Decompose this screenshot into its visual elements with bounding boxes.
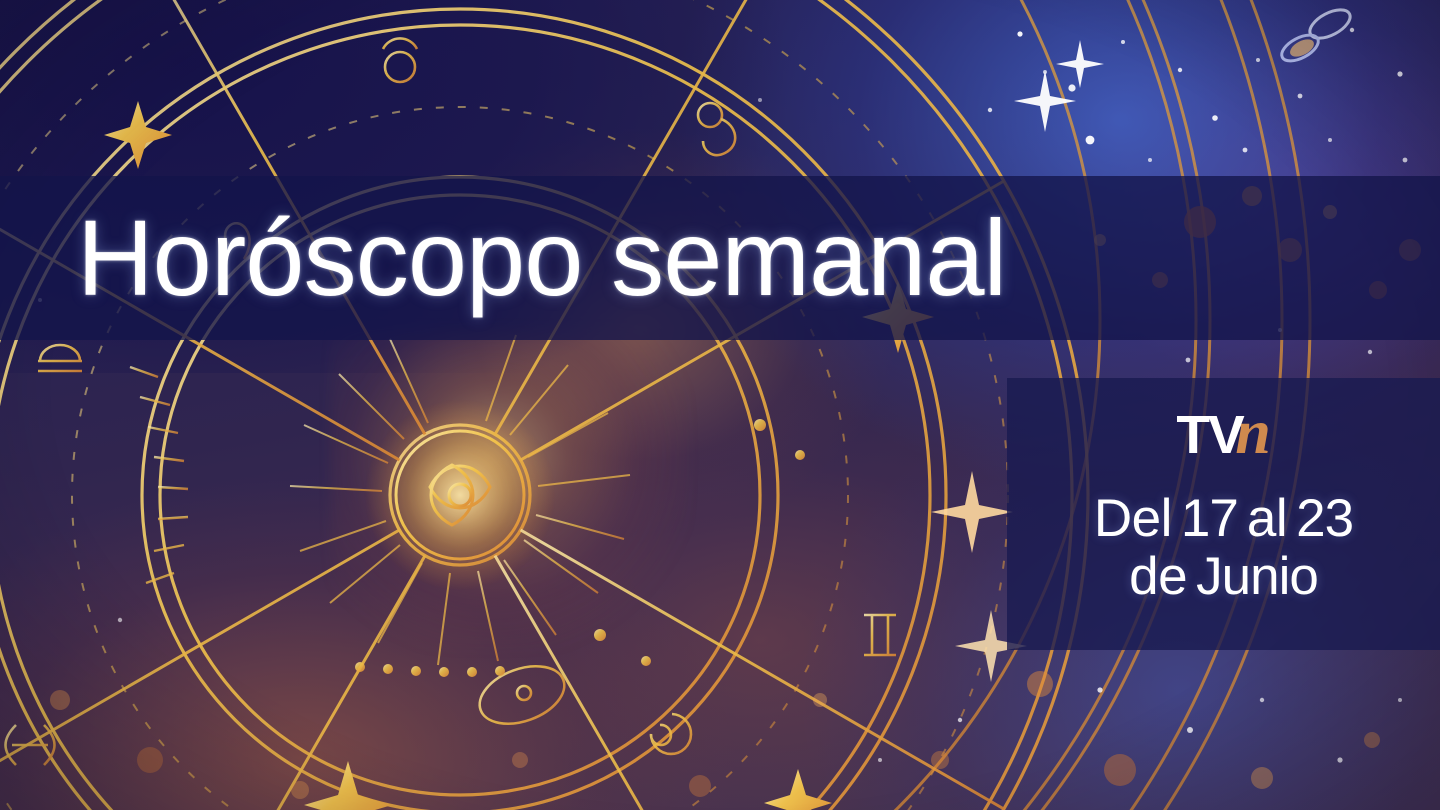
- tvn-logo-tv-text: TV: [1177, 408, 1243, 462]
- date-info-box: TVn Del17al23 deJunio: [1007, 378, 1440, 650]
- title-band: Horóscopo semanal: [0, 176, 1440, 340]
- month-prefix-de: de: [1129, 547, 1187, 606]
- date-range-line: Del17al23: [1094, 490, 1353, 548]
- date-day-end: 23: [1296, 489, 1353, 548]
- date-prefix-del: Del: [1094, 489, 1172, 548]
- month-name: Junio: [1196, 547, 1318, 606]
- month-line: deJunio: [1129, 548, 1318, 606]
- horoscope-banner-image: Horóscopo semanal TVn Del17al23 deJunio: [0, 0, 1440, 810]
- tvn-logo: TVn: [1177, 400, 1270, 464]
- page-title: Horóscopo semanal: [0, 204, 1006, 312]
- date-connector-al: al: [1247, 489, 1287, 548]
- date-day-start: 17: [1181, 489, 1238, 548]
